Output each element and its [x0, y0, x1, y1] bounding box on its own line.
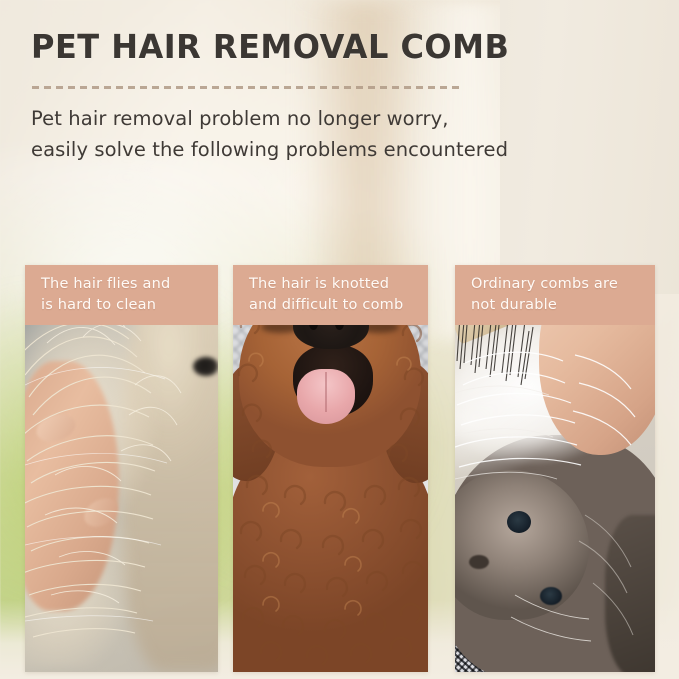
- problem-card-2-caption-line-2: and difficult to comb: [249, 295, 428, 316]
- product-infographic-poster: PET HAIR REMOVAL COMB Pet hair removal p…: [0, 0, 679, 679]
- problem-card-3: Ordinary combs are not durable: [455, 265, 655, 672]
- problem-card-1-photo: [25, 265, 218, 672]
- hero-photo-backdrop: [500, 0, 679, 294]
- hero-cat-photo: [500, 0, 679, 294]
- problem-card-2: The hair is knotted and difficult to com…: [233, 265, 428, 672]
- dashed-divider: [32, 86, 464, 89]
- brush-bristles-and-fur-overlay: [455, 265, 655, 672]
- problem-card-2-caption: The hair is knotted and difficult to com…: [233, 265, 428, 325]
- problem-card-2-caption-line-1: The hair is knotted: [249, 274, 428, 295]
- page-title: PET HAIR REMOVAL COMB: [31, 27, 509, 66]
- problem-card-1-caption-line-2: is hard to clean: [41, 295, 218, 316]
- page-subtitle: Pet hair removal problem no longer worry…: [31, 103, 501, 165]
- problem-card-1-caption-line-1: The hair flies and: [41, 274, 218, 295]
- problem-card-3-caption-line-2: not durable: [471, 295, 655, 316]
- problem-card-3-caption: Ordinary combs are not durable: [455, 265, 655, 325]
- fur-strand-overlay: [25, 265, 218, 672]
- subtitle-line-1: Pet hair removal problem no longer worry…: [31, 103, 501, 134]
- problem-card-1-caption: The hair flies and is hard to clean: [25, 265, 218, 325]
- poodle-curly-fur-texture: [233, 265, 428, 672]
- problem-card-3-photo: [455, 265, 655, 672]
- problem-card-1: The hair flies and is hard to clean: [25, 265, 218, 672]
- subtitle-line-2: easily solve the following problems enco…: [31, 134, 501, 165]
- problem-card-3-caption-line-1: Ordinary combs are: [471, 274, 655, 295]
- problem-card-2-photo: [233, 265, 428, 672]
